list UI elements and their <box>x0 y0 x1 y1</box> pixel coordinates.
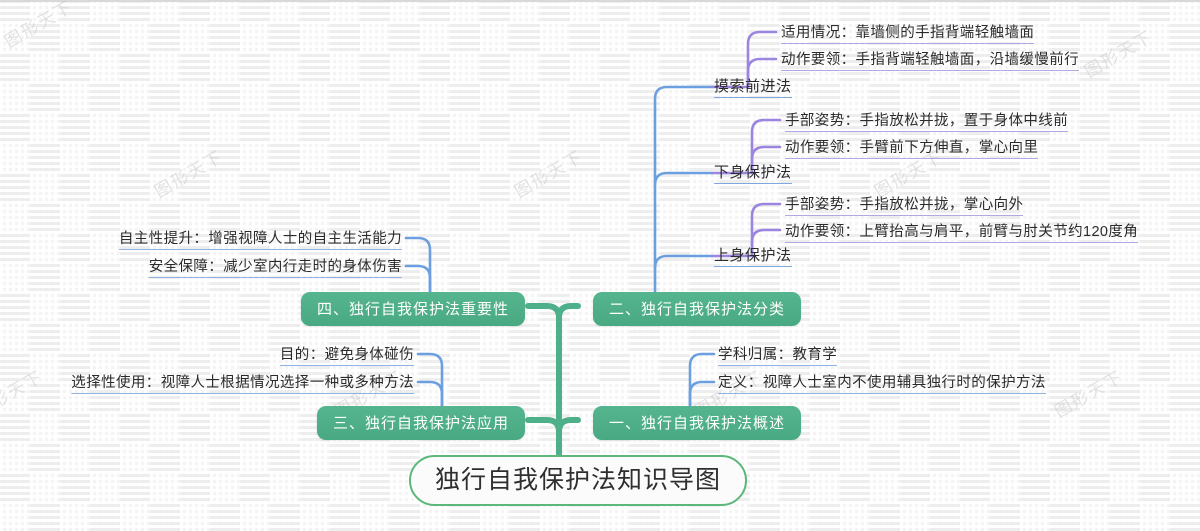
leaf-node[interactable]: 动作要领：上臂抬高与肩平，前臂与肘关节约120度角 <box>785 220 1138 243</box>
subbranch-node-groping[interactable]: 摸索前进法 <box>714 75 792 98</box>
leaf-node[interactable]: 选择性使用：视障人士根据情况选择一种或多种方法 <box>71 371 414 394</box>
watermark: 图形天下 <box>1049 363 1127 423</box>
leaf-node[interactable]: 手部姿势：手指放松并拢，置于身体中线前 <box>785 109 1068 132</box>
leaf-node[interactable]: 动作要领：手指背端轻触墙面，沿墙缓慢前行 <box>781 48 1079 71</box>
leaf-node[interactable]: 定义：视障人士室内不使用辅具独行时的保护方法 <box>718 371 1046 394</box>
branch-node-classification[interactable]: 二、独行自我保护法分类 <box>593 292 801 326</box>
watermark: 图形天下 <box>509 143 587 203</box>
leaf-node[interactable]: 自主性提升：增强视障人士的自主生活能力 <box>119 227 402 250</box>
subbranch-node-lower-body[interactable]: 下身保护法 <box>714 161 792 184</box>
branch-node-application[interactable]: 三、独行自我保护法应用 <box>317 406 525 440</box>
watermark: 图形天下 <box>0 0 77 52</box>
watermark: 图形天下 <box>149 143 227 203</box>
leaf-node[interactable]: 适用情况：靠墙侧的手指背端轻触墙面 <box>781 21 1034 44</box>
leaf-node[interactable]: 安全保障：减少室内行走时的身体伤害 <box>149 255 402 278</box>
leaf-node[interactable]: 学科归属：教育学 <box>718 343 837 366</box>
root-node[interactable]: 独行自我保护法知识导图 <box>409 455 747 506</box>
mindmap-canvas: 图形天下 图形天下 图形天下 图形天下 图形天下 图形天下 图形天下 图形天下 … <box>0 0 1200 531</box>
branch-node-overview[interactable]: 一、独行自我保护法概述 <box>593 406 801 440</box>
branch-node-importance[interactable]: 四、独行自我保护法重要性 <box>301 292 525 326</box>
leaf-node[interactable]: 动作要领：手臂前下方伸直，掌心向里 <box>785 136 1038 159</box>
leaf-node[interactable]: 目的：避免身体碰伤 <box>280 343 414 366</box>
watermark: 图形天下 <box>1079 23 1157 83</box>
leaf-node[interactable]: 手部姿势：手指放松并拢，掌心向外 <box>785 193 1023 216</box>
top-border <box>0 0 1200 2</box>
watermark: 图形天下 <box>0 363 47 423</box>
subbranch-node-upper-body[interactable]: 上身保护法 <box>714 244 792 267</box>
